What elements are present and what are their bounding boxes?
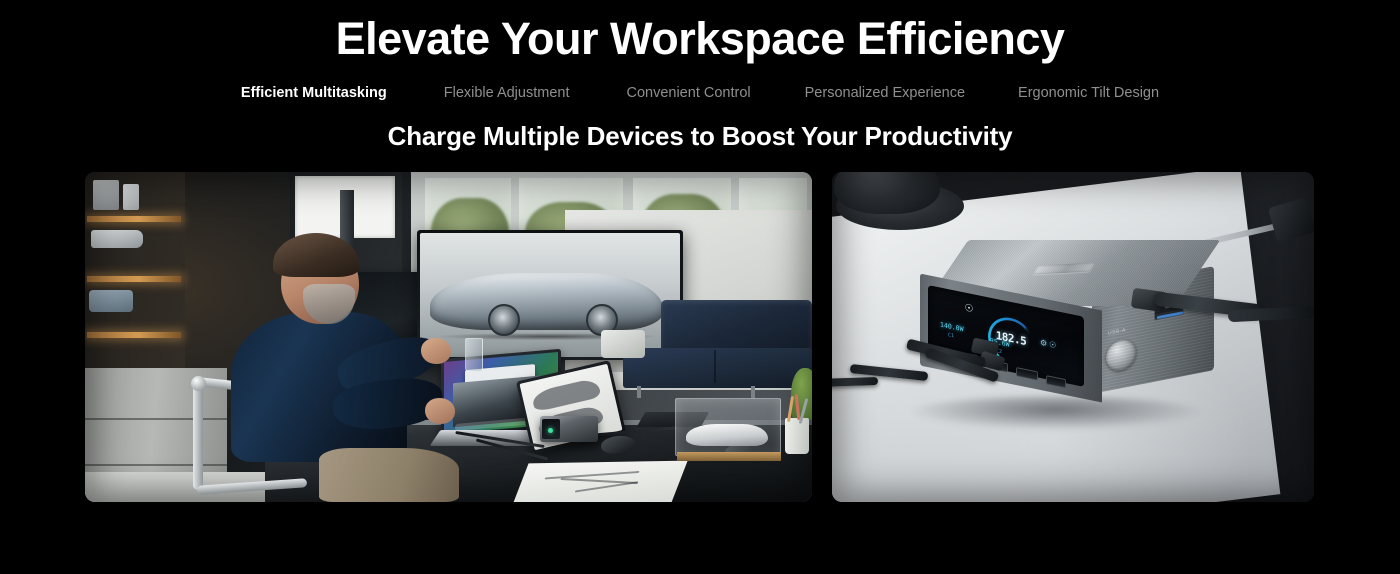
- model-car: [686, 424, 767, 446]
- tab-efficient-multitasking[interactable]: Efficient Multitasking: [241, 83, 387, 103]
- tab-flexible-adjustment[interactable]: Flexible Adjustment: [444, 83, 570, 103]
- person-at-desk: [215, 238, 445, 502]
- sketch-line: [574, 482, 638, 493]
- wifi-icon: ☉: [962, 302, 976, 316]
- shelf-led-strip: [87, 332, 181, 338]
- person-hand: [425, 398, 455, 424]
- power-button[interactable]: [1106, 337, 1136, 373]
- couch-backrest: [661, 300, 812, 354]
- shelf-object: [123, 184, 139, 210]
- anker-charging-station: USB-A ☉ 182.5 140.0W C1 35.6W: [924, 240, 1214, 420]
- gallery-image-left: [85, 172, 812, 502]
- shelf-object: [91, 230, 143, 248]
- page-title: Elevate Your Workspace Efficiency: [0, 14, 1400, 64]
- chair-frame: [193, 382, 203, 490]
- leather-couch: [601, 300, 812, 398]
- section-title: Charge Multiple Devices to Boost Your Pr…: [0, 121, 1400, 152]
- shelf-led-strip: [87, 216, 181, 222]
- chair-pivot-knob: [191, 376, 206, 391]
- couch-leg: [637, 386, 641, 398]
- tab-convenient-control[interactable]: Convenient Control: [626, 83, 750, 103]
- port-label: USB-A: [1108, 327, 1126, 336]
- port-readout-label: C1: [948, 332, 954, 339]
- person-hand: [421, 338, 451, 364]
- shelf-object: [89, 290, 133, 312]
- shelf-object: [93, 180, 119, 210]
- sketch-line: [545, 471, 640, 479]
- pen-cup: [785, 418, 809, 454]
- promo-page: Elevate Your Workspace Efficiency Effici…: [0, 0, 1400, 574]
- charging-station-display: [542, 419, 560, 439]
- couch-seat: [623, 348, 812, 388]
- gallery-image-right: USB-A ☉ 182.5 140.0W C1 35.6W: [832, 172, 1314, 502]
- drinking-glass: [465, 338, 483, 372]
- charging-station-device: [540, 416, 598, 442]
- display-case-base: [677, 452, 781, 461]
- product-scene: USB-A ☉ 182.5 140.0W C1 35.6W: [832, 172, 1314, 502]
- feature-tab-row: Efficient Multitasking Flexible Adjustme…: [0, 83, 1400, 103]
- person-hair: [273, 233, 359, 277]
- person-legs: [319, 448, 459, 502]
- model-car-display-case: [675, 398, 781, 456]
- paper-sketch: [512, 461, 687, 502]
- speaker-dome: [834, 172, 940, 214]
- tab-personalized-experience[interactable]: Personalized Experience: [805, 83, 965, 103]
- status-indicator-led: [548, 428, 553, 433]
- car-wheel: [488, 304, 520, 336]
- couch-leg: [751, 386, 755, 398]
- tab-ergonomic-tilt-design[interactable]: Ergonomic Tilt Design: [1018, 83, 1159, 103]
- office-scene: [85, 172, 812, 502]
- shelf-led-strip: [87, 276, 181, 282]
- couch-armrest: [601, 330, 645, 358]
- settings-icons: ⚙☉: [1040, 338, 1058, 351]
